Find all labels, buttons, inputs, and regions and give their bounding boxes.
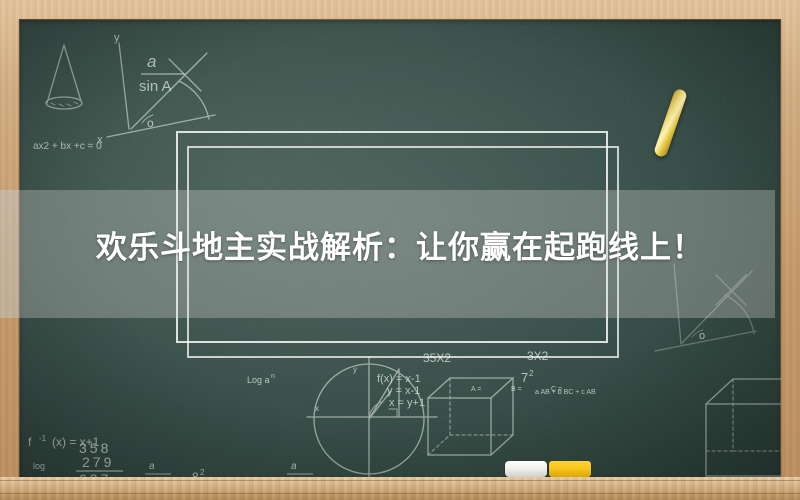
ledge-edge-line-top	[0, 480, 800, 481]
chalkboard-banner: a sin A y x o ax2 + bx +c = 0 o f(x) = x…	[0, 0, 800, 500]
yellow-chalk-piece	[549, 461, 591, 477]
chalk-ledge	[0, 477, 800, 500]
banner-title: 欢乐斗地主实战解析：让你赢在起跑线上！	[0, 228, 800, 268]
white-eraser	[505, 461, 547, 477]
ledge-edge-line-bottom	[0, 493, 800, 494]
